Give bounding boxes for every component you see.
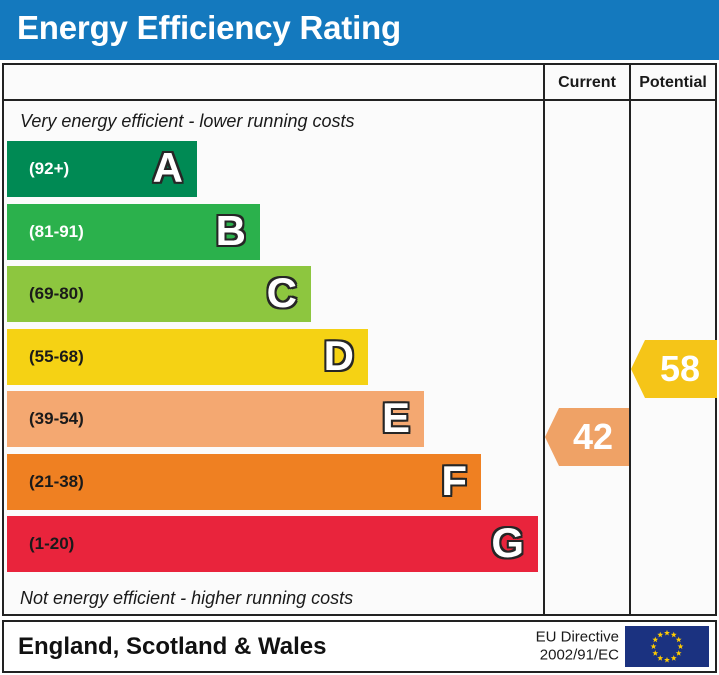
band-range-d: (55-68) [29, 347, 84, 367]
rating-value-current: 42 [561, 419, 613, 455]
band-letter-f: F [441, 460, 467, 502]
page-title: Energy Efficiency Rating [17, 9, 401, 47]
band-letter-d: D [324, 335, 354, 377]
band-d: (55-68)D [7, 329, 368, 385]
band-letter-e: E [382, 397, 410, 439]
rating-bands: (92+)A(81-91)B(69-80)C(55-68)D(39-54)E(2… [4, 141, 543, 580]
band-letter-b: B [216, 210, 246, 252]
table-header-row: Current Potential [4, 65, 715, 101]
band-range-e: (39-54) [29, 409, 84, 429]
footer-region-label: England, Scotland & Wales [18, 633, 326, 661]
band-letter-a: A [153, 147, 183, 189]
band-e: (39-54)E [7, 391, 424, 447]
rating-value-potential: 58 [648, 351, 700, 387]
band-range-c: (69-80) [29, 284, 84, 304]
band-a: (92+)A [7, 141, 197, 197]
column-header-current: Current [543, 65, 629, 101]
footer-bar: England, Scotland & Wales EU Directive 2… [2, 620, 717, 673]
rating-table: Current Potential Very energy efficient … [2, 63, 717, 616]
rating-arrow-potential: 58 [631, 340, 717, 398]
title-banner: Energy Efficiency Rating [0, 0, 719, 60]
column-divider-1 [543, 101, 545, 616]
eu-directive-label: EU Directive 2002/91/EC [536, 628, 619, 666]
band-letter-c: C [267, 272, 297, 314]
band-g: (1-20)G [7, 516, 538, 572]
band-range-g: (1-20) [29, 534, 74, 554]
band-b: (81-91)B [7, 204, 260, 260]
band-range-b: (81-91) [29, 222, 84, 242]
column-divider-2 [629, 101, 631, 616]
band-letter-g: G [491, 522, 524, 564]
caption-inefficient: Not energy efficient - higher running co… [4, 580, 543, 616]
band-f: (21-38)F [7, 454, 481, 510]
column-header-potential: Potential [629, 65, 715, 101]
band-c: (69-80)C [7, 266, 311, 322]
rating-arrow-current: 42 [545, 408, 629, 466]
band-range-f: (21-38) [29, 472, 84, 492]
eu-flag-icon [625, 626, 709, 667]
eu-directive-line1: EU Directive [536, 628, 619, 647]
band-range-a: (92+) [29, 159, 69, 179]
eu-directive-line2: 2002/91/EC [536, 647, 619, 666]
caption-efficient: Very energy efficient - lower running co… [4, 101, 543, 141]
energy-efficiency-certificate: Energy Efficiency Rating Current Potenti… [0, 0, 719, 675]
